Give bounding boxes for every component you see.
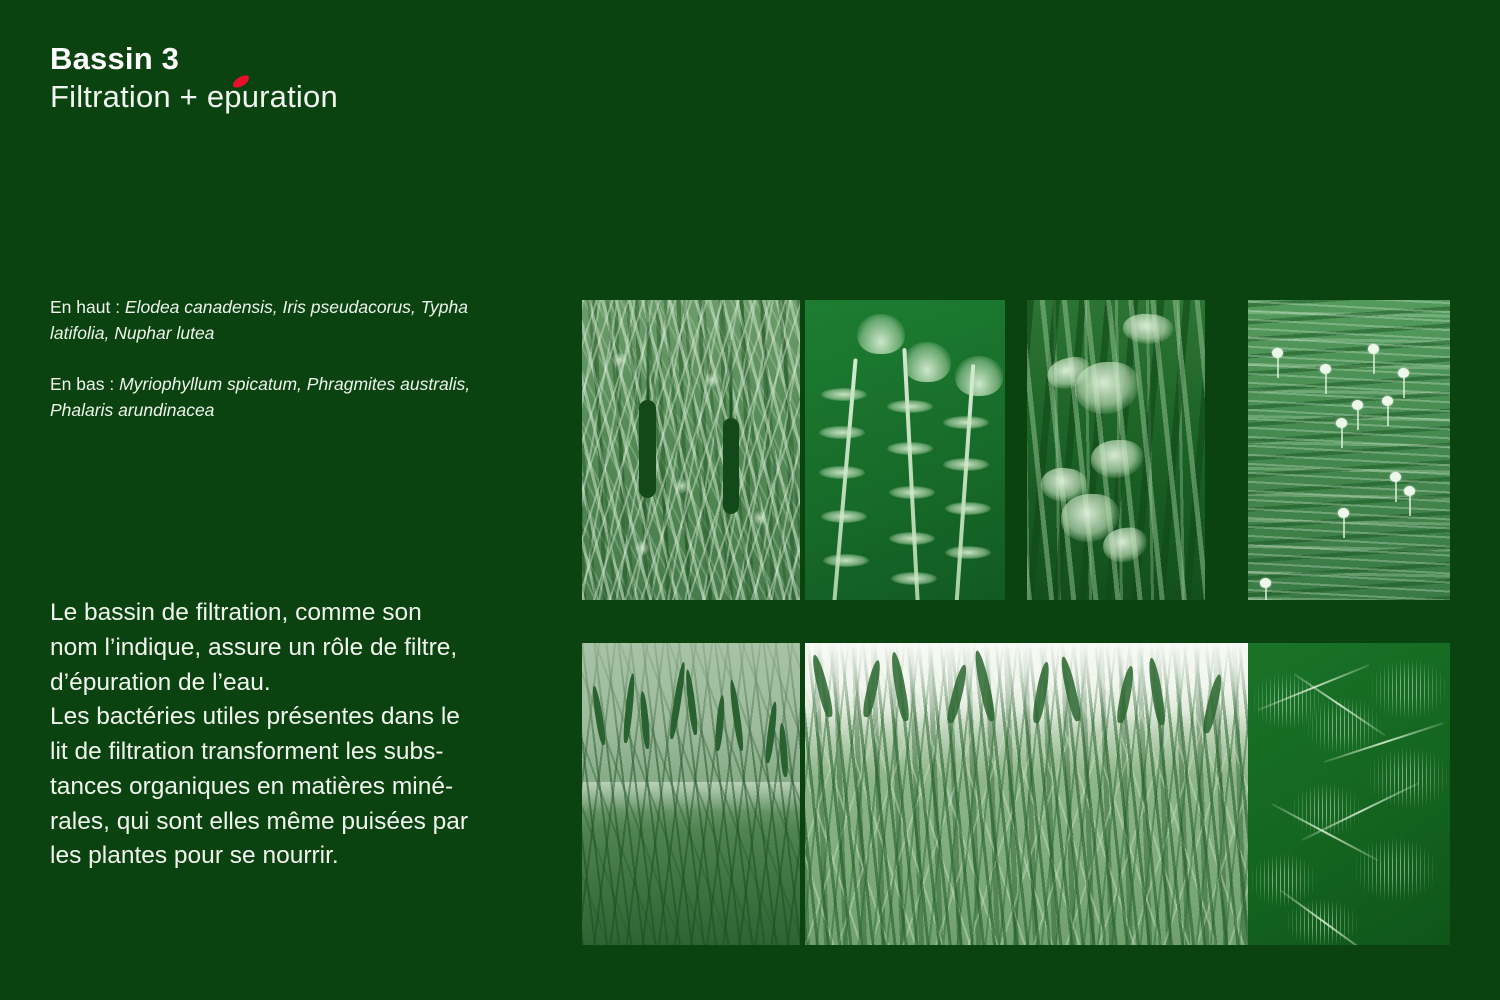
nuphar-flower-bud <box>1382 396 1393 406</box>
myriophyllum-leaf-whorl <box>1368 659 1448 719</box>
caption-bottom-label: En bas : <box>50 374 119 394</box>
nuphar-flower-bud <box>1352 400 1363 410</box>
elodea-leaf-whorl <box>891 572 937 585</box>
nuphar-flower-bud <box>1272 348 1283 358</box>
elodea-leaf-whorl <box>945 546 991 559</box>
nuphar-flower-bud <box>1404 486 1415 496</box>
photo-typha-latifolia <box>582 300 800 600</box>
body-line-8: les plantes pour se nourrir. <box>50 839 520 874</box>
body-line-5: lit de filtration transforment les subs- <box>50 735 520 770</box>
elodea-leaf-whorl <box>821 388 867 401</box>
nuphar-flower-bud <box>1336 418 1347 428</box>
typha-tuft <box>704 372 720 388</box>
elodea-leaf-whorl <box>819 466 865 479</box>
page-title: Bassin 3 <box>50 40 530 78</box>
elodea-leaf-whorl <box>945 502 991 515</box>
body-line-2: nom l’indique, assure un rôle de filtre, <box>50 631 520 666</box>
subtitle-text-before-accent: Filtration + <box>50 79 207 114</box>
page-subtitle: Filtration + epuration <box>50 78 338 116</box>
body-line-1: Le bassin de filtration, comme son <box>50 596 520 631</box>
body-line-3: d’épuration de l’eau. <box>50 666 520 701</box>
typha-tuft <box>752 510 768 526</box>
photo-phalaris-arundinacea <box>582 643 800 945</box>
typha-foliage-overlay <box>582 300 800 600</box>
caption-top-label: En haut : <box>50 297 125 317</box>
nuphar-flower-bud <box>1338 508 1349 518</box>
elodea-leaf-whorl <box>823 554 869 567</box>
photo-phragmites-australis <box>805 643 1250 945</box>
body-line-6: tances organiques en matières miné- <box>50 770 520 805</box>
caption-bottom-row: En bas : Myriophyllum spicatum, Phragmit… <box>50 372 490 423</box>
typha-spike <box>639 400 656 498</box>
headline-block: Bassin 3 Filtration + epuration <box>50 40 530 116</box>
elodea-leaf-whorl <box>887 442 933 455</box>
myriophyllum-leaf-whorl <box>1366 747 1450 809</box>
nuphar-flower-bud <box>1320 364 1331 374</box>
myriophyllum-leaf-whorl <box>1352 837 1438 901</box>
caption-top-row: En haut : Elodea canadensis, Iris pseuda… <box>50 295 490 346</box>
species-captions: En haut : Elodea canadensis, Iris pseuda… <box>50 295 490 449</box>
nuphar-flower-bud <box>1398 368 1409 378</box>
body-paragraph: Le bassin de filtration, comme son nom l… <box>50 596 520 874</box>
elodea-leaf-whorl <box>943 458 989 471</box>
nuphar-flower-bud <box>1368 344 1379 354</box>
photo-nuphar-lutea <box>1248 300 1450 600</box>
photo-gallery <box>582 300 1450 945</box>
elodea-shoot-tip <box>857 314 905 354</box>
body-line-7: rales, qui sont elles même puisées par <box>50 805 520 840</box>
typha-tuft <box>674 478 690 494</box>
typha-tuft <box>612 352 628 368</box>
elodea-leaf-whorl <box>819 426 865 439</box>
photo-myriophyllum-spicatum <box>1248 643 1450 945</box>
elodea-shoot-tip <box>955 356 1003 396</box>
photo-iris-pseudacorus <box>1027 300 1205 600</box>
elodea-leaf-whorl <box>887 400 933 413</box>
nuphar-flower-bud <box>1260 578 1271 588</box>
elodea-leaf-whorl <box>821 510 867 523</box>
typha-tuft <box>634 540 650 556</box>
elodea-leaf-whorl <box>889 486 935 499</box>
photo-elodea-canadensis <box>805 300 1005 600</box>
typha-spike <box>723 418 739 514</box>
myriophyllum-leaf-whorl <box>1290 783 1362 837</box>
subtitle-accent-letter: e <box>207 79 224 114</box>
elodea-leaf-whorl <box>889 532 935 545</box>
elodea-leaf-whorl <box>943 416 989 429</box>
nuphar-lily-pads <box>1248 300 1450 600</box>
nuphar-flower-bud <box>1390 472 1401 482</box>
body-line-4: Les bactéries utiles présentes dans le <box>50 700 520 735</box>
myriophyllum-leaf-whorl <box>1284 899 1360 945</box>
left-content-column: Bassin 3 Filtration + epuration En haut … <box>50 0 550 1000</box>
elodea-shoot-tip <box>903 342 951 382</box>
